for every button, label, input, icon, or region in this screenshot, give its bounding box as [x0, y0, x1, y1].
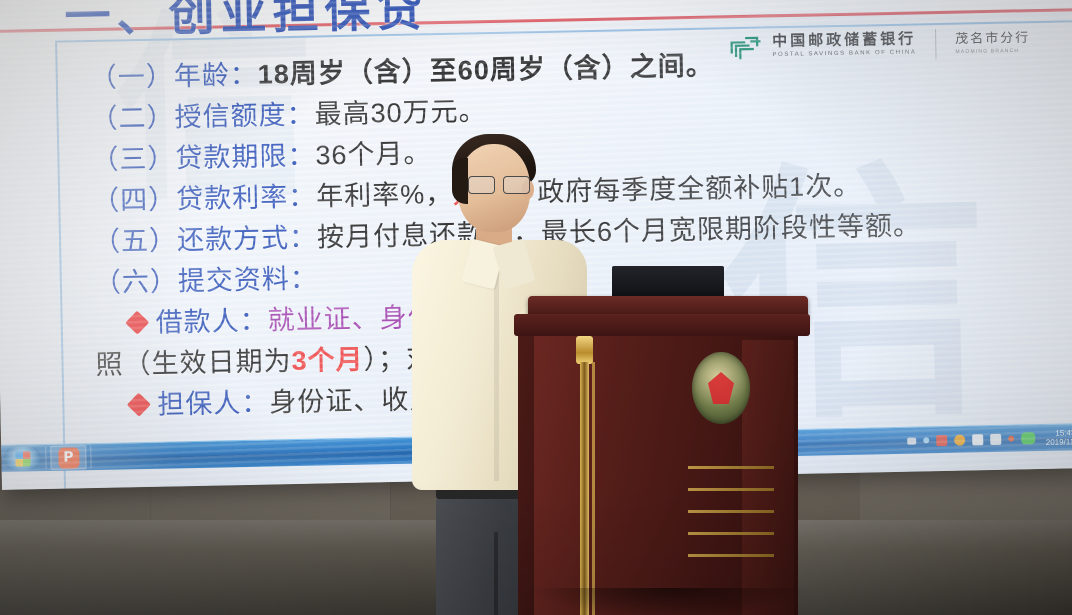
windows-logo-icon — [15, 451, 30, 466]
lectern-right-panel — [742, 340, 794, 615]
taskbar-item-wps-presentation[interactable]: P — [50, 445, 86, 470]
lectern-lip — [514, 314, 810, 336]
taskbar-separator — [90, 446, 91, 468]
network-icon[interactable] — [936, 434, 947, 445]
lectern-gold-column — [580, 362, 589, 615]
photo-scene: 信 信 一、创业担保贷 中国邮政储蓄银行 — [0, 0, 1072, 615]
trouser-seam — [494, 532, 498, 615]
line-5-key: （五）还款方式： — [93, 223, 318, 257]
taskbar-separator — [45, 447, 46, 469]
battery-icon[interactable] — [1008, 436, 1014, 442]
clock-time: 15:43 — [1055, 428, 1072, 437]
lectern-gold-stripe — [688, 488, 774, 491]
lectern-emblem — [692, 352, 750, 424]
chevron-up-icon[interactable] — [923, 437, 929, 443]
taskbar-clock[interactable]: 15:43 2019/11/05 — [1042, 428, 1072, 447]
system-tray[interactable]: 15:43 2019/11/05 — [907, 428, 1072, 450]
glasses-icon — [468, 176, 530, 194]
emblem-star-icon — [708, 372, 734, 404]
shield-icon[interactable] — [954, 434, 965, 445]
bullet-borrower-label: 借款人： — [155, 306, 268, 338]
diamond-bullet-icon — [125, 311, 149, 335]
laptop-on-lectern — [612, 266, 724, 298]
bullet-wrap-head: 照（生效日期为 — [95, 346, 292, 380]
show-desktop-icon[interactable] — [907, 437, 916, 444]
wechat-icon[interactable] — [1021, 432, 1035, 444]
lectern-gold-stripe — [688, 532, 774, 535]
line-3-key: （三）贷款期限： — [91, 141, 316, 175]
start-button[interactable] — [3, 446, 41, 471]
line-4-key: （四）贷款利率： — [92, 182, 317, 216]
shirt-placket — [494, 256, 499, 481]
diamond-bullet-icon — [127, 393, 151, 417]
presenter-hair-side — [452, 158, 468, 204]
input-method-icon[interactable] — [972, 434, 983, 445]
line-1-key: （一）年龄： — [89, 60, 258, 93]
lectern-gold-column-2 — [592, 362, 595, 615]
line-2-value: 最高30万元。 — [314, 96, 487, 129]
lectern-gold-cap — [576, 336, 593, 364]
line-2-key: （二）授信额度： — [90, 100, 315, 134]
line-1-value: 18周岁（含）至60周岁（含）之间。 — [257, 51, 714, 90]
bullet-guarantor-label: 担保人： — [157, 388, 270, 420]
wps-presentation-icon: P — [58, 447, 79, 468]
slide-title: 一、创业担保贷 — [64, 0, 429, 47]
line-6-key: （六）提交资料： — [94, 264, 319, 298]
lectern-gold-stripe — [688, 554, 774, 557]
clock-date: 2019/11/05 — [1046, 437, 1072, 447]
lectern — [528, 288, 808, 615]
lectern-gold-stripe — [688, 510, 774, 513]
slide-frame-left — [55, 41, 66, 489]
lectern-shadow — [528, 588, 808, 615]
line-4-value: 年利率 — [316, 180, 401, 212]
bullet-wrap-highlight: 3个月 — [291, 345, 364, 376]
lectern-gold-stripe — [688, 466, 774, 469]
volume-icon[interactable] — [990, 433, 1001, 444]
